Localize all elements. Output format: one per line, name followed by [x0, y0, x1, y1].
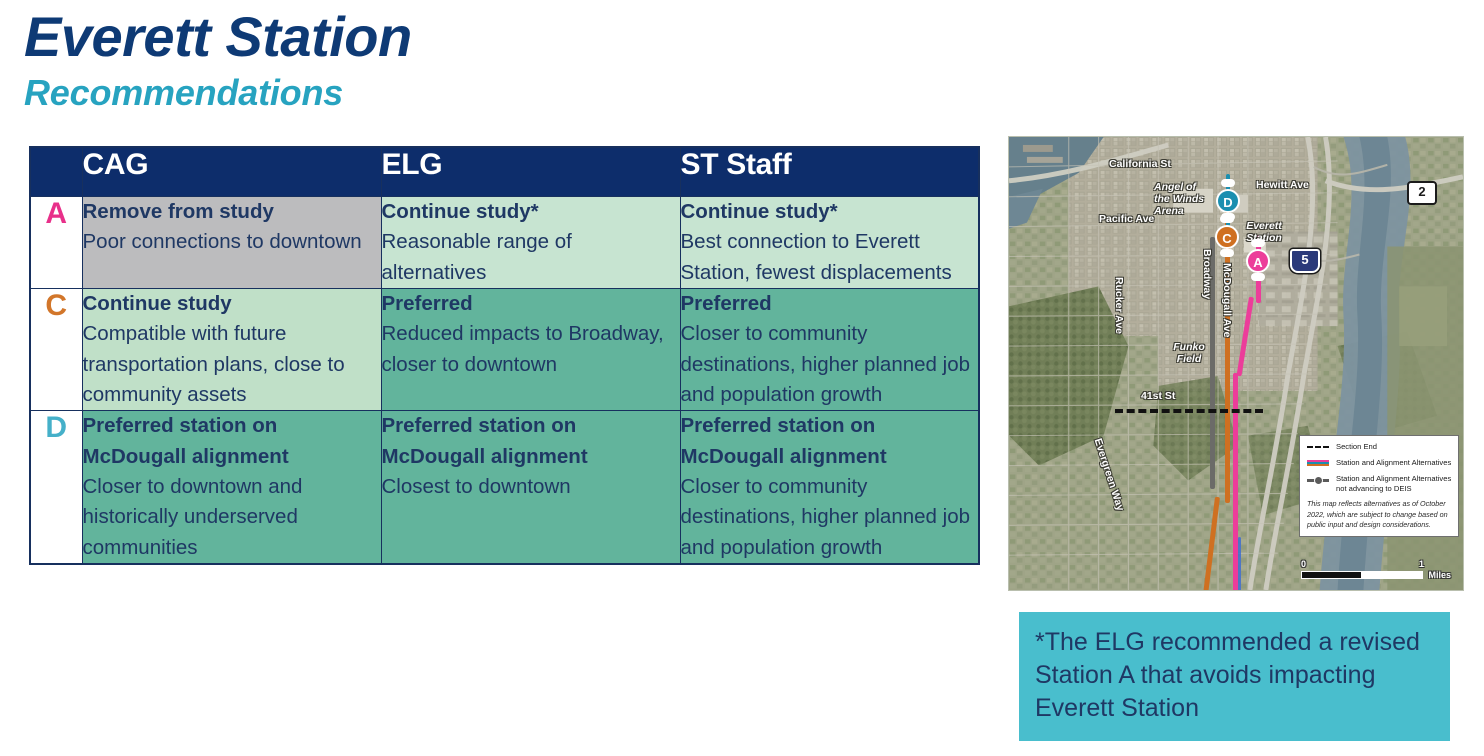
cell-headline: Preferred station on McDougall alignment	[382, 414, 588, 467]
section-end-line	[1115, 409, 1263, 413]
legend-note: This map reflects alternatives as of Oct…	[1307, 499, 1452, 530]
legend-label-alternatives: Station and Alignment Alternatives	[1336, 458, 1451, 468]
station-marker-d[interactable]: D	[1216, 189, 1240, 213]
cell-headline: Continue study	[83, 292, 232, 315]
cell-d-st-staff: Preferred station on McDougall alignment…	[680, 411, 979, 564]
legend-row-alternatives: Station and Alignment Alternatives	[1307, 458, 1452, 468]
station-d-cap-top	[1221, 179, 1235, 187]
scale-units: Miles	[1428, 570, 1451, 580]
station-a-cap-bottom	[1251, 273, 1265, 281]
legend-label-not-advancing: Station and Alignment Alternatives not a…	[1336, 474, 1452, 494]
dashed-line-swatch	[1307, 446, 1329, 448]
table-row: ARemove from studyPoor connections to do…	[30, 197, 979, 289]
scale-max: 1	[1419, 559, 1424, 569]
cell-c-elg: PreferredReduced impacts to Broadway, cl…	[381, 288, 680, 410]
cell-headline: Preferred	[382, 292, 473, 315]
scale-segment-filled	[1301, 571, 1362, 579]
row-label-a: A	[30, 197, 82, 289]
legend-row-not-advancing: Station and Alignment Alternatives not a…	[1307, 474, 1452, 494]
cell-headline: Remove from study	[83, 200, 274, 223]
map-scale-bar: 0 1 Miles	[1301, 559, 1451, 580]
cell-d-elg: Preferred station on McDougall alignment…	[381, 411, 680, 564]
color-stripes-swatch	[1307, 460, 1329, 466]
alternatives-map[interactable]: D C A California St Angel of the Winds A…	[1008, 136, 1464, 591]
table-row: DPreferred station on McDougall alignmen…	[30, 411, 979, 564]
route-blue-lower-tail	[1238, 537, 1241, 591]
highway-shield-2: 2	[1407, 181, 1437, 205]
recommendations-table: CAG ELG ST Staff ARemove from studyPoor …	[29, 146, 980, 565]
gray-station-marker-swatch	[1307, 476, 1329, 485]
title-block: Everett Station Recommendations	[24, 8, 412, 112]
cell-c-cag: Continue studyCompatible with future tra…	[82, 288, 381, 410]
cell-detail: Poor connections to downtown	[83, 230, 362, 253]
scale-numbers: 0 1	[1301, 559, 1451, 570]
cell-headline: Preferred	[681, 292, 772, 315]
map-legend: Section End Station and Alignment Altern…	[1299, 435, 1459, 537]
table-header-row: CAG ELG ST Staff	[30, 147, 979, 197]
legend-row-section-end: Section End	[1307, 442, 1452, 452]
column-header-cag: CAG	[82, 147, 381, 197]
cell-d-cag: Preferred station on McDougall alignment…	[82, 411, 381, 564]
cell-headline: Preferred station on McDougall alignment	[681, 414, 887, 467]
legend-label-section-end: Section End	[1336, 442, 1377, 452]
cell-detail: Closest to downtown	[382, 475, 571, 498]
highway-shield-i5: 5	[1290, 249, 1320, 273]
table-corner-cell	[30, 147, 82, 197]
column-header-elg: ELG	[381, 147, 680, 197]
scale-min: 0	[1301, 559, 1306, 569]
column-header-st-staff: ST Staff	[680, 147, 979, 197]
cell-a-elg: Continue study*Reasonable range of alter…	[381, 197, 680, 289]
station-c-cap-top	[1220, 215, 1234, 223]
cell-detail: Closer to downtown and historically unde…	[83, 475, 303, 559]
station-marker-a[interactable]: A	[1246, 249, 1270, 273]
cell-detail: Reduced impacts to Broadway, closer to d…	[382, 322, 664, 375]
elg-footnote-callout: *The ELG recommended a revised Station A…	[1019, 612, 1450, 741]
scale-segment-empty	[1362, 571, 1423, 579]
table-header: CAG ELG ST Staff	[30, 147, 979, 197]
scale-track: Miles	[1301, 570, 1451, 580]
station-a-cap-top	[1251, 239, 1265, 247]
cell-detail: Closer to community destinations, higher…	[681, 322, 971, 406]
cell-a-cag: Remove from studyPoor connections to dow…	[82, 197, 381, 289]
page-subtitle: Recommendations	[24, 73, 412, 113]
cell-a-st-staff: Continue study*Best connection to Everet…	[680, 197, 979, 289]
station-c-cap-bottom	[1220, 249, 1234, 257]
route-gray-not-advancing	[1210, 237, 1215, 489]
cell-c-st-staff: PreferredCloser to community destination…	[680, 288, 979, 410]
cell-detail: Compatible with future transportation pl…	[83, 322, 345, 406]
row-label-d: D	[30, 411, 82, 564]
cell-detail: Closer to community destinations, higher…	[681, 475, 971, 559]
row-label-c: C	[30, 288, 82, 410]
cell-headline: Continue study*	[681, 200, 838, 223]
station-marker-c[interactable]: C	[1215, 225, 1239, 249]
cell-headline: Continue study*	[382, 200, 539, 223]
table-body: ARemove from studyPoor connections to do…	[30, 197, 979, 564]
page-title: Everett Station	[24, 8, 412, 67]
cell-headline: Preferred station on McDougall alignment	[83, 414, 289, 467]
cell-detail: Reasonable range of alternatives	[382, 230, 572, 283]
table-row: CContinue studyCompatible with future tr…	[30, 288, 979, 410]
cell-detail: Best connection to Everett Station, fewe…	[681, 230, 952, 283]
